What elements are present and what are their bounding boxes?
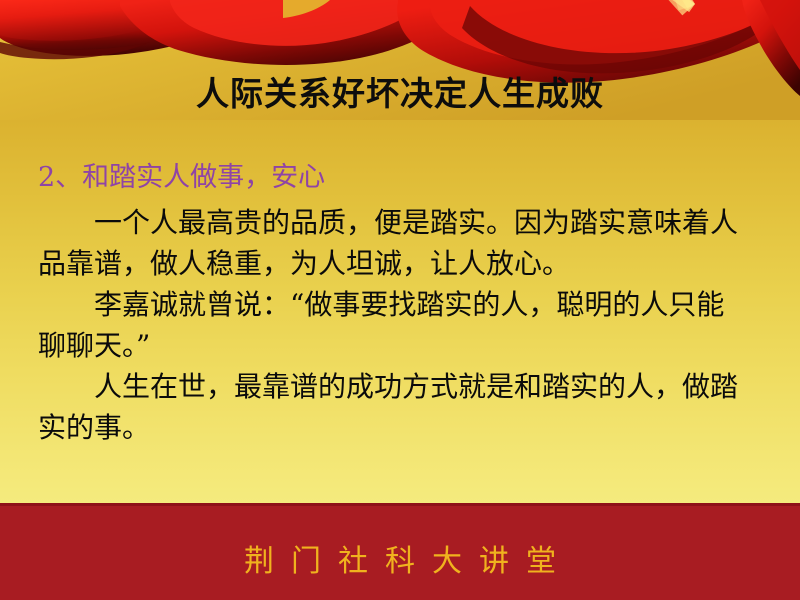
footer-banner: 荆门社科大讲堂: [0, 503, 800, 600]
body-subheading: 2、和踏实人做事，安心: [38, 158, 738, 198]
footer-title: 荆门社科大讲堂: [0, 536, 800, 580]
slide-body: 2、和踏实人做事，安心 一个人最高贵的品质，便是踏实。因为踏实意味着人品靠谱，做…: [38, 158, 738, 448]
presentation-slide: 人际关系好坏决定人生成败 2、和踏实人做事，安心 一个人最高贵的品质，便是踏实。…: [0, 0, 800, 600]
slide-title: 人际关系好坏决定人生成败: [0, 74, 800, 114]
body-paragraph-3: 人生在世，最靠谱的成功方式就是和踏实的人，做踏实的事。: [38, 366, 738, 448]
body-paragraph-2: 李嘉诚就曾说：“做事要找踏实的人，聪明的人只能聊聊天。”: [38, 284, 738, 366]
body-paragraph-1: 一个人最高贵的品质，便是踏实。因为踏实意味着人品靠谱，做人稳重，为人坦诚，让人放…: [38, 202, 738, 284]
